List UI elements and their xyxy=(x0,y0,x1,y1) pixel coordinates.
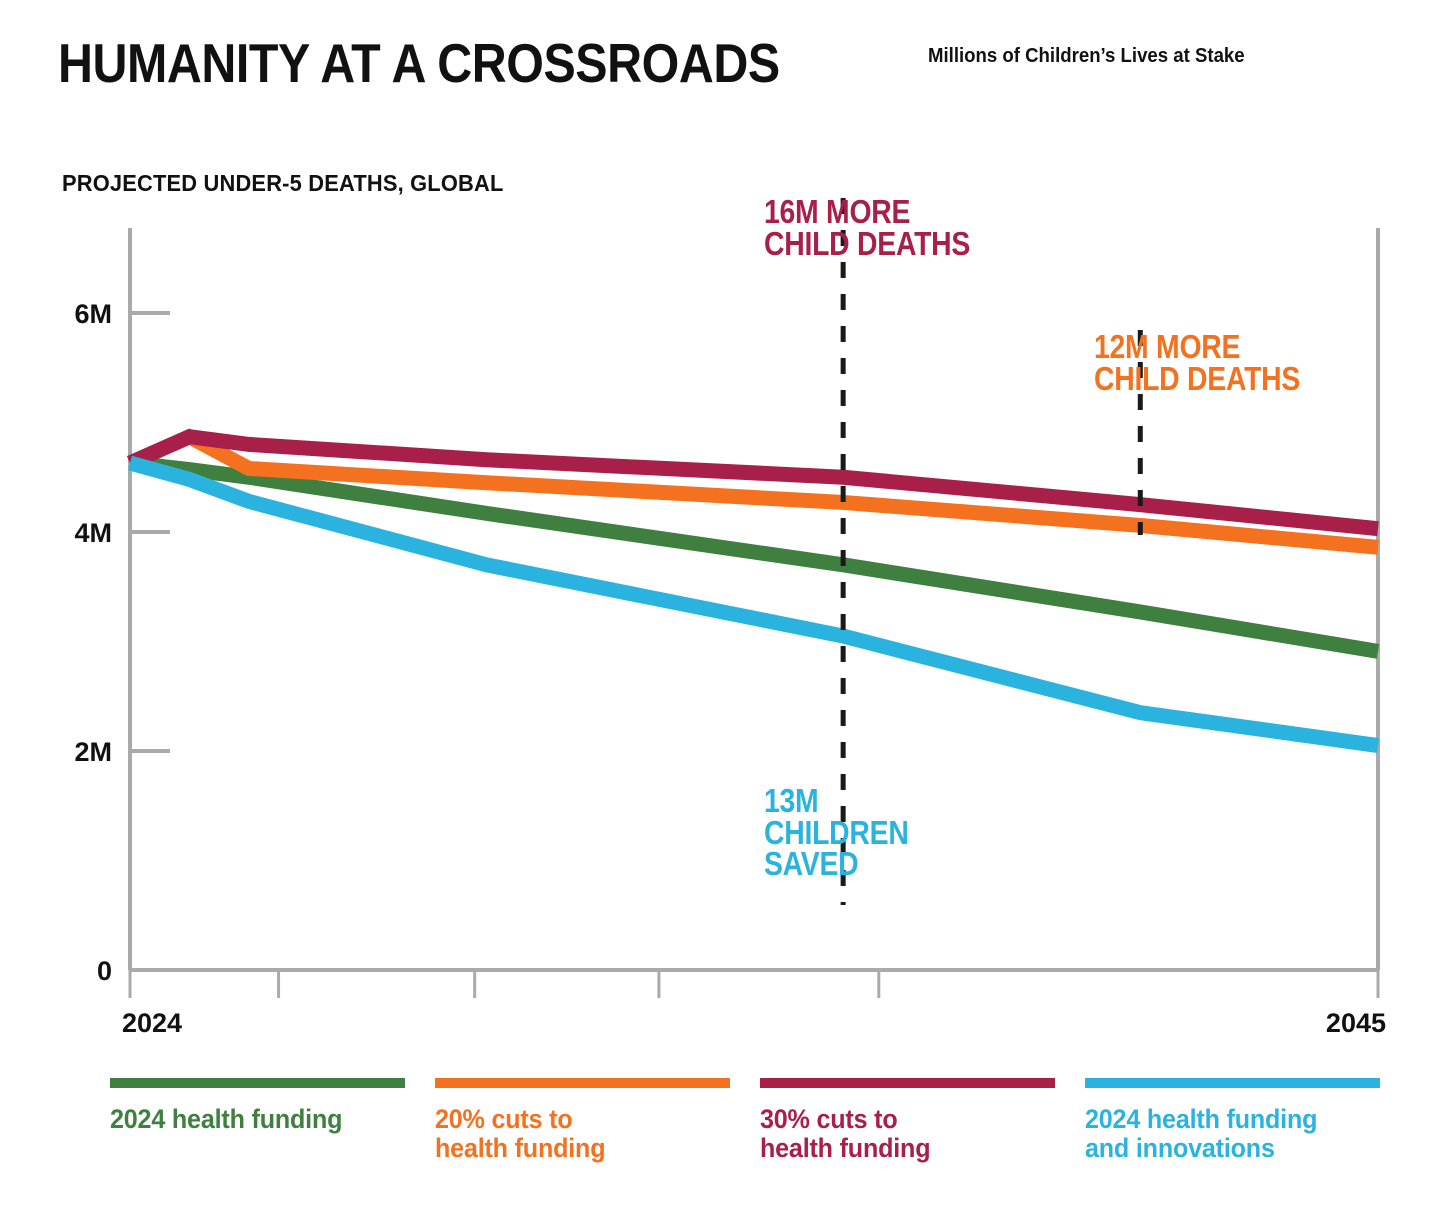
y-tick-label: 0 xyxy=(97,956,112,986)
chart-area: 02M4M6M20242045 xyxy=(0,0,1440,1050)
legend-label: 20% cuts to health funding xyxy=(435,1105,737,1163)
legend-label: 30% cuts to health funding xyxy=(760,1105,1062,1163)
y-tick-label: 6M xyxy=(74,299,112,329)
legend-swatch xyxy=(760,1078,1055,1088)
y-tick-label: 2M xyxy=(74,737,112,767)
annotation-12m-more-child-deaths: 12M MORE CHILD DEATHS xyxy=(1094,331,1300,394)
legend-label: 2024 health funding and innovations xyxy=(1085,1105,1387,1163)
line-chart: 02M4M6M20242045 xyxy=(0,0,1440,1050)
chart-tick-labels: 02M4M6M20242045 xyxy=(74,299,1386,1038)
legend-swatch xyxy=(110,1078,405,1088)
y-tick-label: 4M xyxy=(74,518,112,548)
x-tick-label: 2024 xyxy=(122,1008,182,1038)
legend-label: 2024 health funding xyxy=(110,1105,412,1134)
legend-item-1[interactable]: 2024 health funding xyxy=(110,1078,435,1163)
annotation-13m-children-saved: 13M CHILDREN SAVED xyxy=(764,785,909,880)
chart-legend: 2024 health funding20% cuts to health fu… xyxy=(110,1078,1410,1163)
legend-swatch xyxy=(1085,1078,1380,1088)
legend-swatch xyxy=(435,1078,730,1088)
legend-item-2[interactable]: 20% cuts to health funding xyxy=(435,1078,760,1163)
legend-item-4[interactable]: 2024 health funding and innovations xyxy=(1085,1078,1410,1163)
x-tick-label: 2045 xyxy=(1326,1008,1386,1038)
annotation-16m-more-child-deaths: 16M MORE CHILD DEATHS xyxy=(764,196,970,259)
chart-series xyxy=(130,437,1378,746)
legend-item-3[interactable]: 30% cuts to health funding xyxy=(760,1078,1085,1163)
